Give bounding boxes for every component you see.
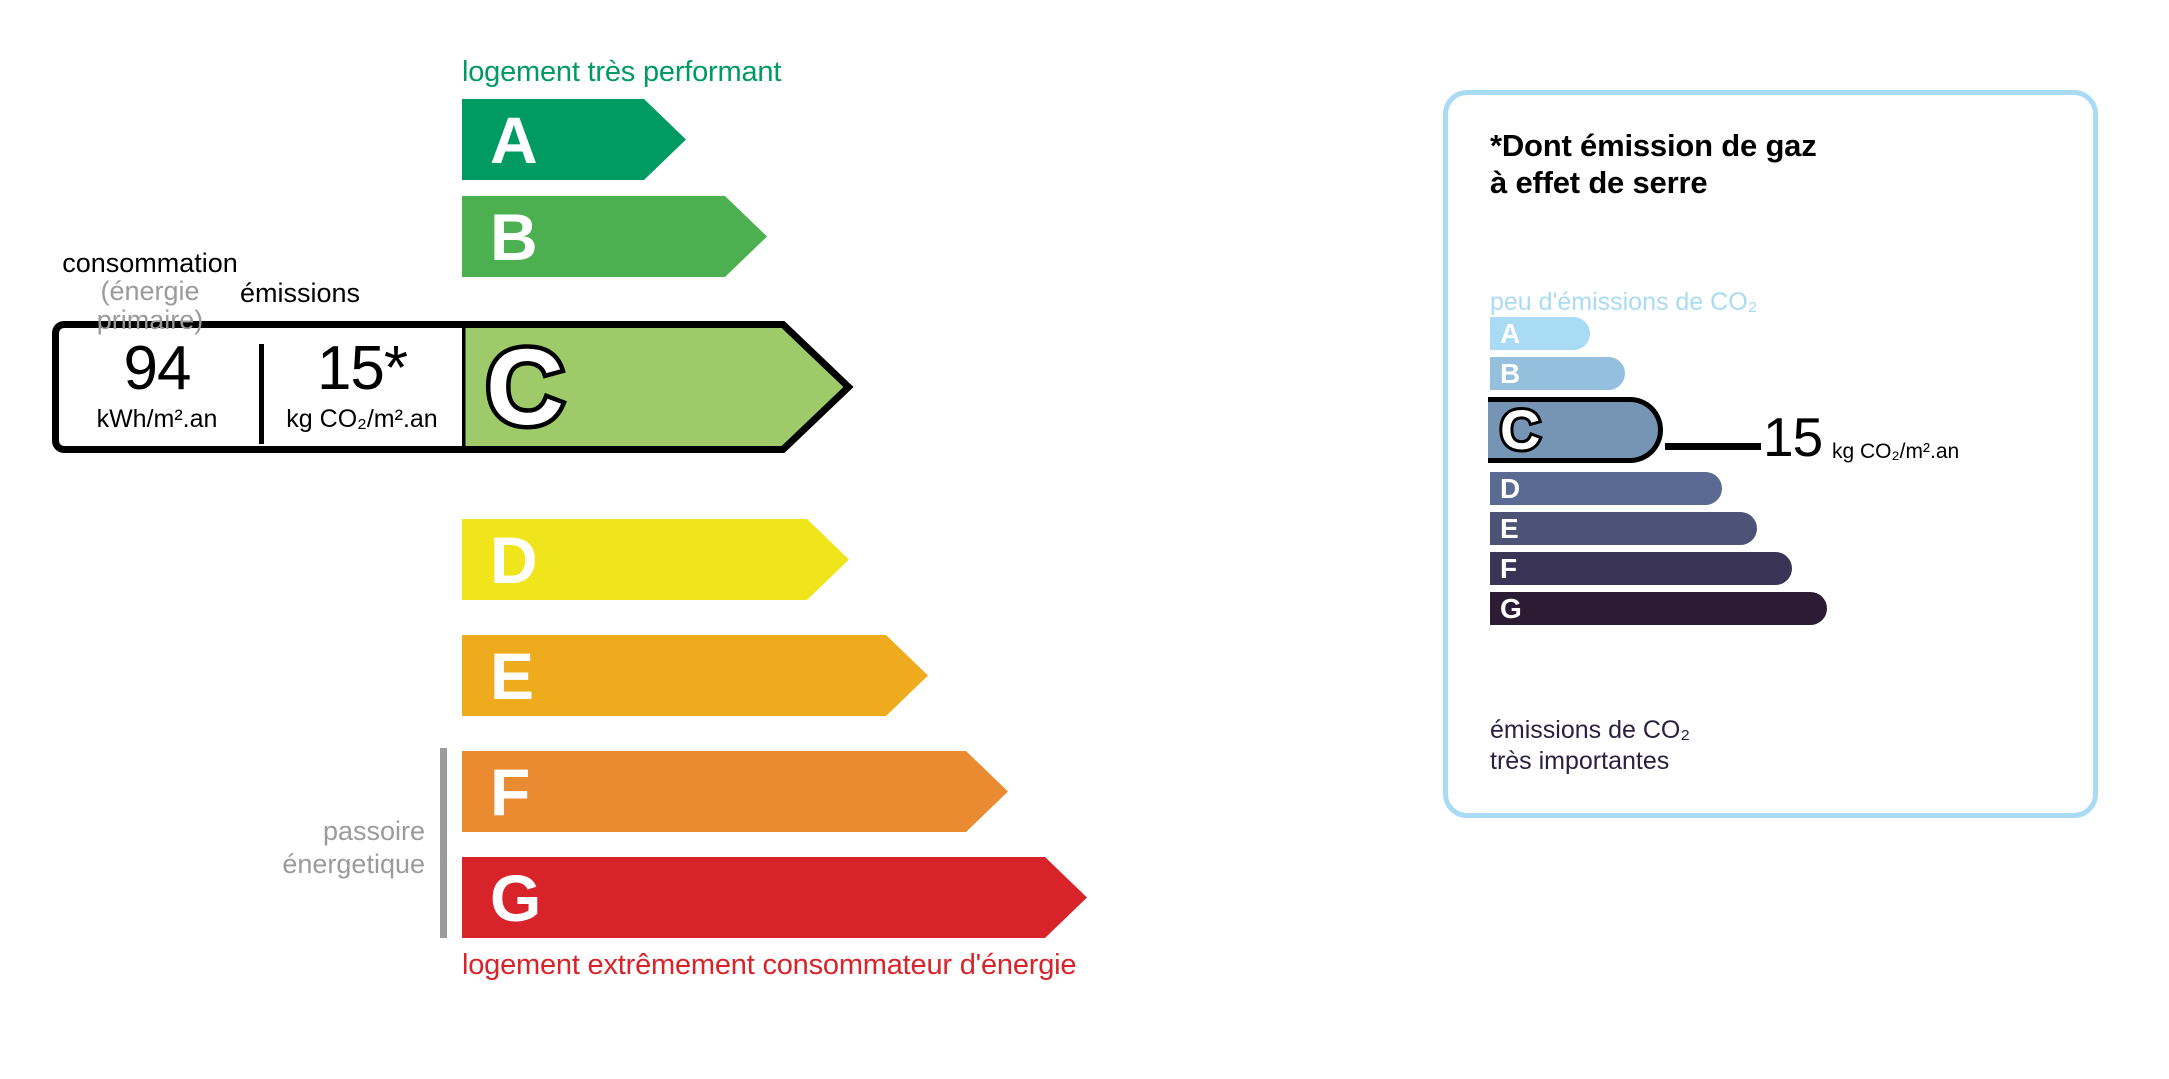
co2-class-letter-a: A (1500, 320, 1520, 348)
co2-bar-e: E (1490, 512, 1757, 545)
dpe-energy-label: logement très performant ABCDEFG 94 kWh/… (0, 0, 2169, 1079)
co2-class-row-e: E (1490, 512, 1757, 545)
co2-bar-f: F (1490, 552, 1792, 585)
consumption-header: consommation (énergie primaire) (52, 249, 248, 334)
energy-arrow-g: G (462, 857, 1147, 938)
energy-class-row-a: A (462, 99, 746, 180)
energy-class-row-f: F (462, 751, 1068, 832)
co2-bar-g: G (1490, 592, 1827, 625)
co2-class-letter-g: G (1500, 595, 1522, 623)
energy-arrow-b: B (462, 196, 827, 277)
emissions-header: émissions (240, 278, 360, 309)
energy-class-row-g: G (462, 857, 1147, 938)
co2-bottom-caption-line2: très importantes (1490, 746, 1690, 777)
energy-performance-ladder: logement très performant ABCDEFG 94 kWh/… (0, 0, 1300, 1079)
emissions-value: 15* (317, 340, 407, 399)
ladder-bottom-caption: logement extrêmement consommateur d'éner… (462, 949, 1076, 982)
consumption-value: 94 (124, 340, 191, 399)
consumption-value-cell: 94 kWh/m².an (59, 328, 255, 446)
co2-value-unit: kg CO₂/m².an (1832, 440, 1959, 464)
co2-value: 15 (1763, 410, 1822, 465)
energy-class-row-d: D (462, 519, 909, 600)
passoire-divider (440, 748, 447, 938)
consumption-header-main: consommation (52, 249, 248, 277)
co2-title-line1: *Dont émission de gaz (1490, 127, 1817, 164)
energy-arrow-a: A (462, 99, 746, 180)
co2-bottom-caption-line1: émissions de CO₂ (1490, 715, 1690, 746)
co2-title-line2: à effet de serre (1490, 164, 1817, 201)
value-box: 94 kWh/m².an 15* kg CO₂/m².an (52, 321, 462, 453)
co2-class-row-f: F (1490, 552, 1792, 585)
co2-class-letter-e: E (1500, 515, 1519, 543)
co2-class-row-d: D (1490, 472, 1722, 505)
co2-class-row-c: C (1488, 397, 1663, 463)
consumption-header-sub: (énergie primaire) (52, 277, 248, 334)
energy-arrow-e: E (462, 635, 988, 716)
co2-bar-a: A (1490, 317, 1590, 350)
emissions-value-cell: 15* kg CO₂/m².an (264, 328, 460, 446)
co2-class-letter-c: C (1500, 402, 1540, 458)
co2-class-letter-b: B (1500, 360, 1520, 388)
passoire-label-line1: passoire (230, 815, 425, 848)
energy-arrow-f: F (462, 751, 1068, 832)
co2-top-caption: peu d'émissions de CO₂ (1490, 288, 1757, 317)
co2-class-letter-f: F (1500, 555, 1517, 583)
energy-class-row-c: C (462, 321, 912, 453)
energy-arrow-c: C (462, 321, 912, 453)
passoire-label: passoire énergetique (230, 815, 425, 881)
co2-bar-d: D (1490, 472, 1722, 505)
energy-arrow-d: D (462, 519, 909, 600)
co2-class-letter-d: D (1500, 475, 1520, 503)
energy-class-row-e: E (462, 635, 988, 716)
ladder-top-caption: logement très performant (462, 56, 781, 89)
co2-class-row-g: G (1490, 592, 1827, 625)
co2-bottom-caption: émissions de CO₂ très importantes (1490, 715, 1690, 776)
co2-bar-b: B (1490, 357, 1625, 390)
co2-class-row-b: B (1490, 357, 1625, 390)
emissions-unit: kg CO₂/m².an (286, 405, 437, 434)
consumption-unit: kWh/m².an (97, 405, 218, 434)
co2-panel-title: *Dont émission de gaz à effet de serre (1490, 127, 1817, 201)
co2-class-row-a: A (1490, 317, 1590, 350)
co2-bar-c: C (1488, 397, 1663, 463)
co2-leader-line (1665, 443, 1761, 450)
passoire-label-line2: énergetique (230, 848, 425, 881)
energy-class-row-b: B (462, 196, 827, 277)
